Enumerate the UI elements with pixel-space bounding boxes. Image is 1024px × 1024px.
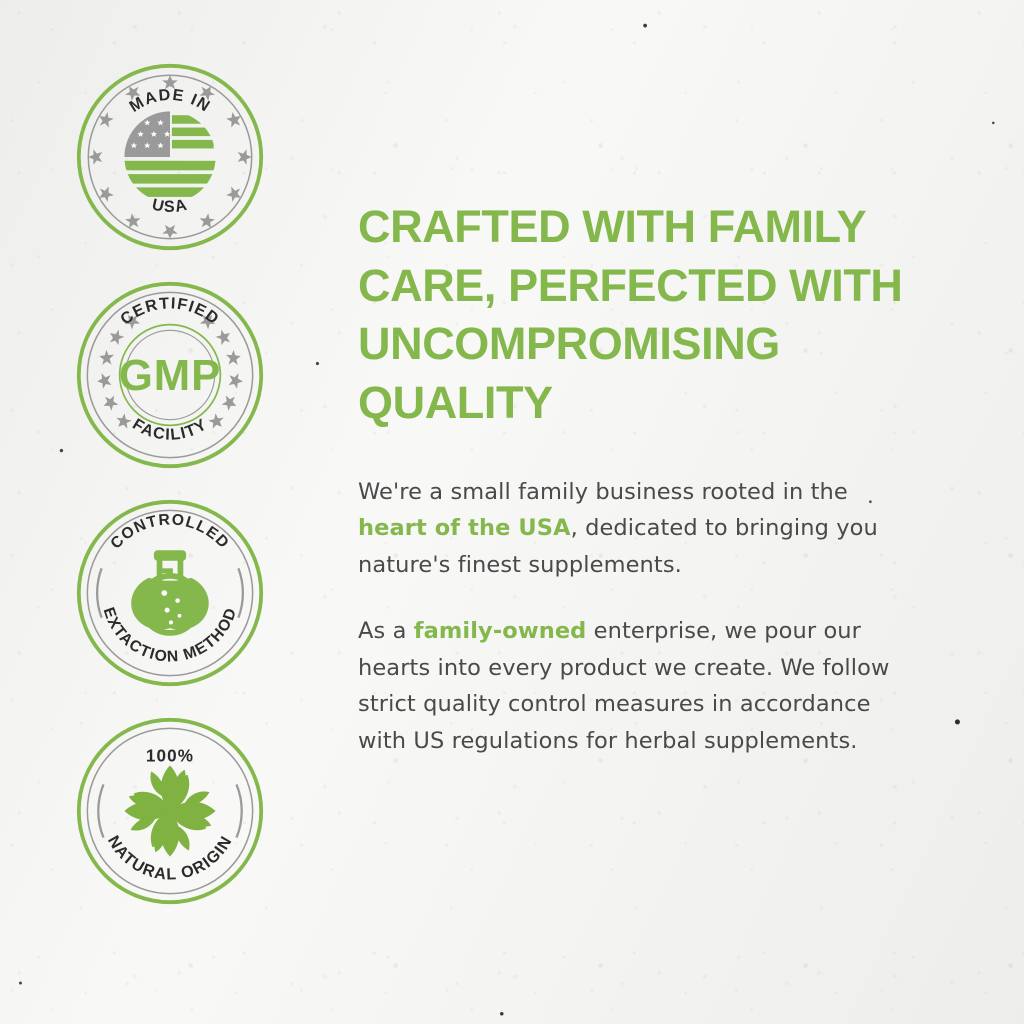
paragraph-2-highlight: family-owned [414, 618, 587, 644]
left-arc [97, 568, 101, 617]
badge-top-label: MADE IN [126, 86, 214, 116]
svg-text:USA: USA [150, 196, 190, 217]
paragraph-2-part-1: As a [358, 618, 414, 644]
badge-controlled-extaction-method: CONTROLLED EXTACTION METHOD [75, 498, 265, 688]
flask-leaves-icon [131, 550, 209, 633]
content-column: CRAFTED WITH FAMILY CARE, PERFECTED WITH… [340, 0, 1024, 1024]
svg-text:CERTIFIED: CERTIFIED [117, 294, 223, 328]
badge-gmp-certified-facility: GMP CERTIFIED FACILITY [75, 280, 265, 470]
paragraph-1: We're a small family business rooted in … [358, 474, 906, 583]
svg-text:CONTROLLED: CONTROLLED [107, 511, 232, 552]
paragraph-1-part-1: We're a small family business rooted in … [358, 479, 848, 505]
gmp-text-icon: GMP [119, 351, 221, 400]
page-title: CRAFTED WITH FAMILY CARE, PERFECTED WITH… [358, 198, 906, 432]
page-layout: MADE IN USA [0, 0, 1024, 1024]
badge-top-label: 100% [146, 747, 194, 766]
badge-top-label: CONTROLLED [107, 511, 232, 552]
badge-top-label: CERTIFIED [117, 294, 223, 328]
paragraph-2: As a family-owned enterprise, we pour ou… [358, 613, 906, 759]
right-arc [238, 568, 242, 617]
badge-made-in-usa: MADE IN USA [75, 62, 265, 252]
right-arc [237, 784, 242, 837]
svg-text:MADE IN: MADE IN [126, 86, 214, 116]
leaf-rosette-icon [124, 765, 215, 856]
certification-badges-column: MADE IN USA [0, 0, 340, 1024]
left-arc [98, 784, 103, 837]
usa-flag-circle-icon [124, 111, 215, 196]
badge-bottom-label: USA [150, 196, 190, 217]
paragraph-1-highlight: heart of the USA [358, 515, 571, 541]
badge-natural-origin: 100% NATURAL ORIGIN [75, 716, 265, 906]
